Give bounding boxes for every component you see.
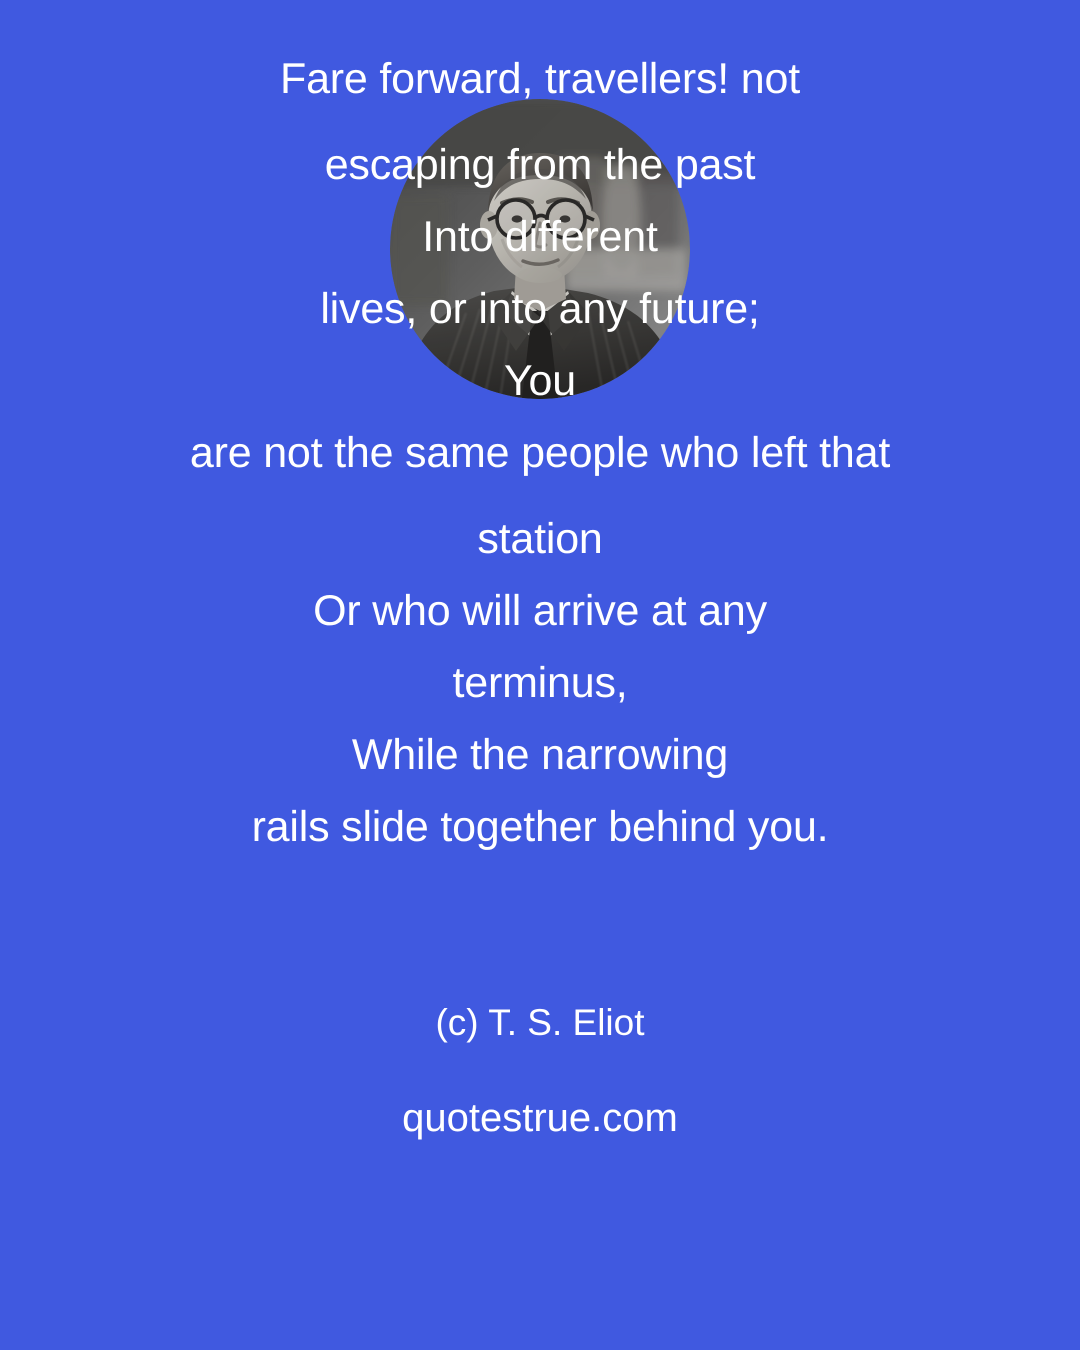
- quote-line-6: are not the same people who left that: [0, 410, 1080, 496]
- quote-line-2: escaping from the past: [0, 122, 1080, 208]
- quote-line-4: lives, or into any future;: [0, 266, 1080, 352]
- quote-text: Fare forward, travellers! not escaping f…: [0, 0, 1080, 870]
- quote-card: Fare forward, travellers! not escaping f…: [0, 0, 1080, 1350]
- quote-line-5: You: [0, 352, 1080, 410]
- quote-line-9: terminus,: [0, 640, 1080, 726]
- quote-line-10: While the narrowing: [0, 726, 1080, 784]
- quote-line-8: Or who will arrive at any: [0, 582, 1080, 640]
- quote-line-11: rails slide together behind you.: [0, 784, 1080, 870]
- quote-attribution: (c) T. S. Eliot: [0, 1002, 1080, 1044]
- quote-line-3: Into different: [0, 208, 1080, 266]
- quote-line-1: Fare forward, travellers! not: [0, 36, 1080, 122]
- quote-line-7: station: [0, 496, 1080, 582]
- site-footer: quotestrue.com: [0, 1096, 1080, 1141]
